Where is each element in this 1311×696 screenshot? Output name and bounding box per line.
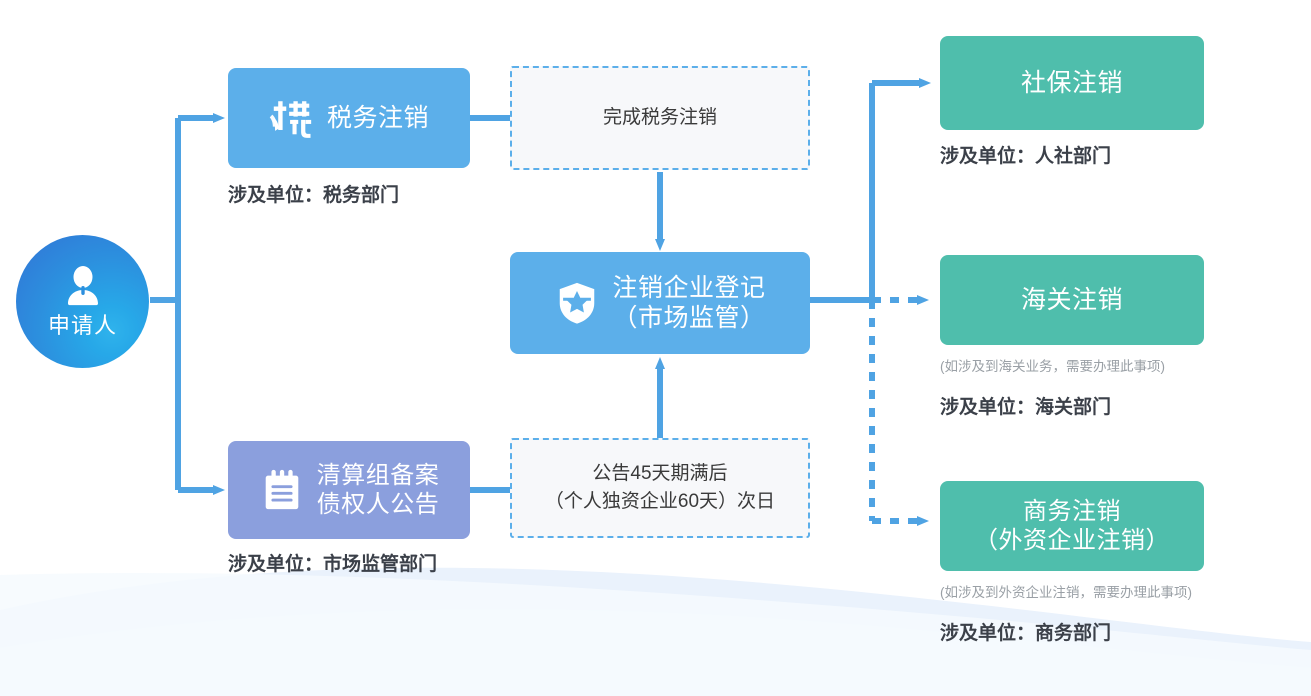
shield-icon (554, 280, 600, 326)
node-registration-cancellation[interactable]: 注销企业登记 （市场监管） (510, 252, 810, 354)
note-customs-condition: (如涉及到海关业务，需要办理此事项) (940, 355, 1165, 375)
node-applicant-label: 申请人 (48, 308, 117, 340)
node-liquidation-filing-label: 清算组备案 债权人公告 (317, 461, 440, 520)
tax-character-icon (269, 95, 315, 141)
note-commerce-condition: (如涉及到外资企业注销，需要办理此事项) (940, 581, 1192, 601)
condition-tax-completed-text: 完成税务注销 (603, 104, 717, 132)
caption-commerce-department: 涉及单位：商务部门 (940, 618, 1111, 645)
node-registration-cancellation-label: 注销企业登记 （市场监管） (612, 273, 765, 334)
node-commerce-cancellation[interactable]: 商务注销 （外资企业注销） (940, 481, 1204, 571)
caption-human-resources-department: 涉及单位：人社部门 (940, 141, 1111, 168)
caption-tax-department: 涉及单位：税务部门 (228, 180, 399, 207)
node-social-security-cancellation[interactable]: 社保注销 (940, 36, 1204, 130)
caption-customs-department: 涉及单位：海关部门 (940, 392, 1111, 419)
flowchart-canvas: 申请人 税务注销 涉及单位：税务部门 完成税务注销 (0, 0, 1311, 696)
node-social-security-cancellation-label: 社保注销 (1021, 68, 1123, 99)
condition-announcement-period-text: 公告45天期满后 （个人独资企业60天）次日 (545, 460, 775, 515)
node-customs-cancellation-label: 海关注销 (1021, 285, 1123, 316)
node-tax-cancellation-label: 税务注销 (327, 103, 429, 134)
person-icon (63, 264, 103, 306)
node-liquidation-filing[interactable]: 清算组备案 债权人公告 (228, 441, 470, 539)
node-applicant[interactable]: 申请人 (16, 235, 149, 368)
node-commerce-cancellation-label: 商务注销 （外资企业注销） (974, 497, 1170, 556)
node-customs-cancellation[interactable]: 海关注销 (940, 255, 1204, 345)
node-tax-cancellation[interactable]: 税务注销 (228, 68, 470, 168)
condition-tax-completed: 完成税务注销 (510, 66, 810, 170)
caption-market-regulation-department: 涉及单位：市场监管部门 (228, 549, 437, 576)
notepad-icon (259, 467, 305, 513)
condition-announcement-period: 公告45天期满后 （个人独资企业60天）次日 (510, 438, 810, 538)
